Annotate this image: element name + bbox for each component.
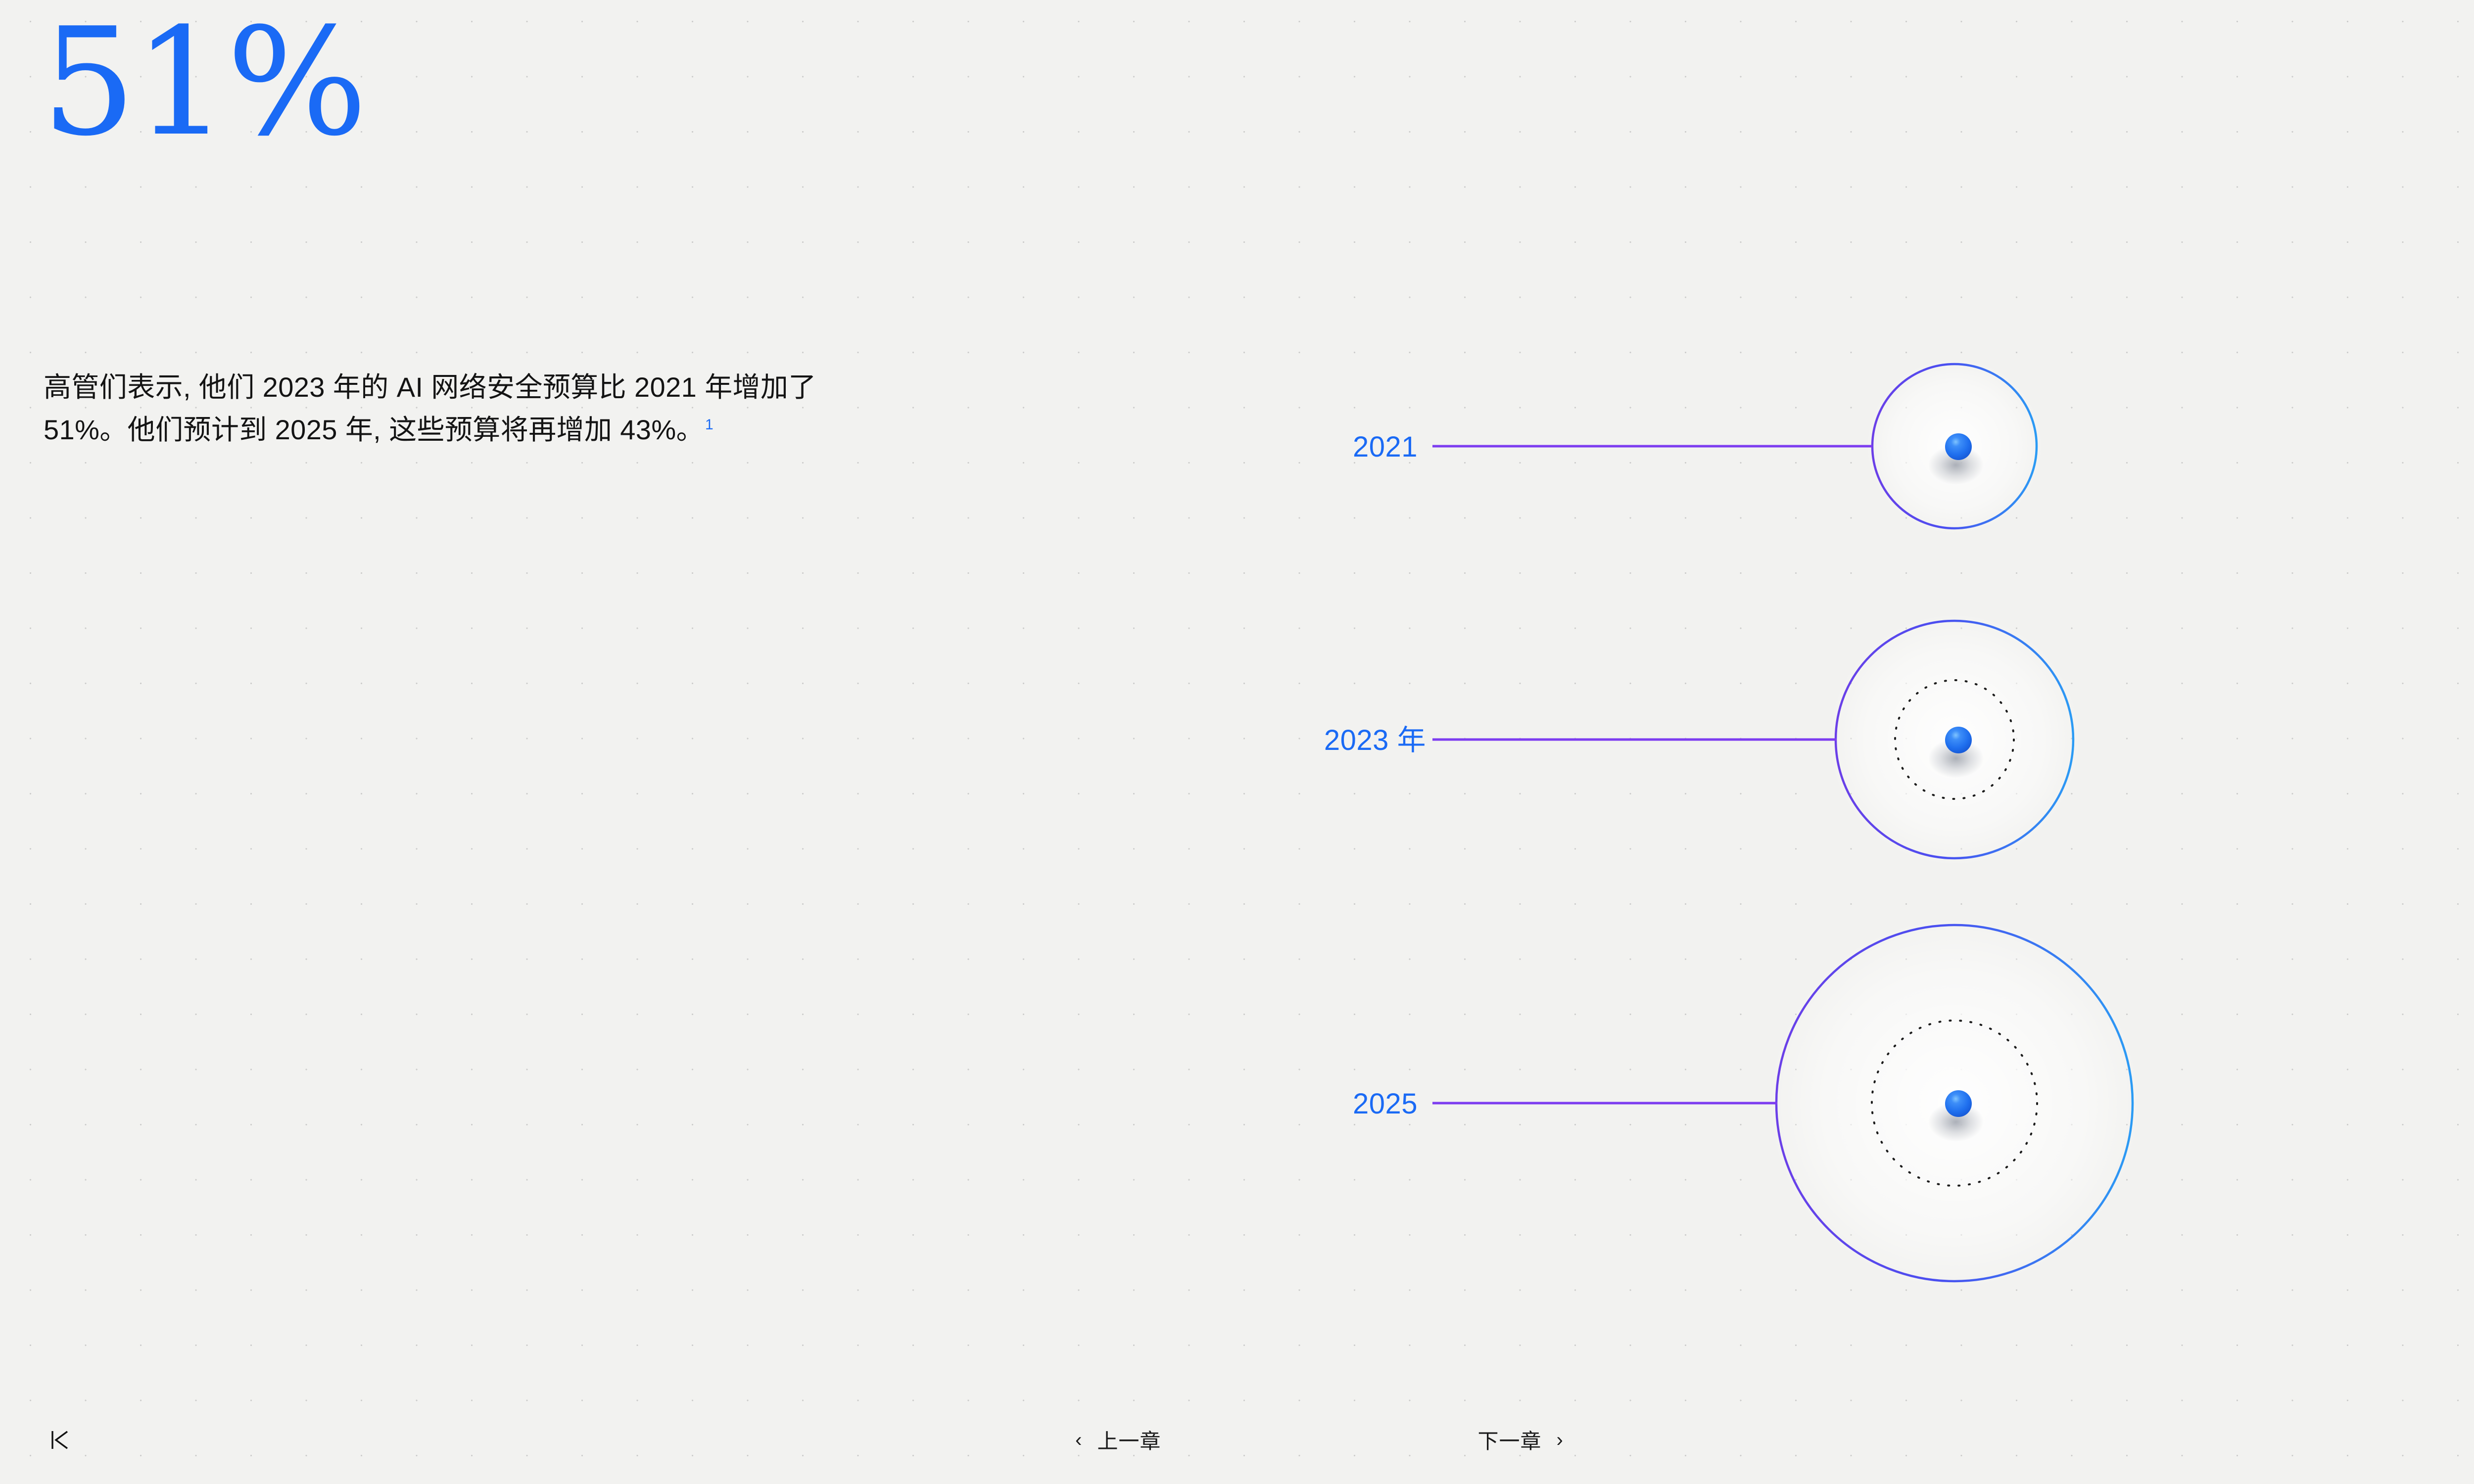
body-paragraph: 高管们表示, 他们 2023 年的 AI 网络安全预算比 2021 年增加了 5… [44,366,865,451]
chart-svg: 2021 2023 年 2025 [1286,317,2276,1336]
node-sphere-2025 [1945,1090,1972,1117]
body-paragraph-text: 高管们表示, 他们 2023 年的 AI 网络安全预算比 2021 年增加了 5… [44,371,816,445]
chart-item-2025[interactable]: 2025 [1353,915,2142,1291]
next-chapter-label: 下一章 [1478,1425,1542,1455]
prev-chapter-button[interactable]: ‹ 上一章 [1075,1425,1161,1455]
node-sphere-2021 [1945,433,1972,460]
year-label-2021[interactable]: 2021 [1353,431,1418,463]
footer-bar: ‹ 上一章 下一章 › 8 [0,1390,2474,1484]
concentric-circle-chart: 2021 2023 年 2025 [1286,317,2276,1336]
prev-chapter-label: 上一章 [1097,1425,1161,1455]
node-sphere-2023 [1945,727,1972,753]
year-label-2023[interactable]: 2023 年 [1324,724,1426,756]
next-chapter-button[interactable]: 下一章 › [1478,1425,1564,1455]
chevron-left-icon: ‹ [1075,1430,1082,1450]
footnote-reference[interactable]: 1 [705,417,714,433]
chart-item-2021[interactable]: 2021 [1353,357,2044,535]
skip-to-start-button[interactable] [49,1427,86,1453]
year-label-2025[interactable]: 2025 [1353,1088,1418,1120]
chapter-navigation: ‹ 上一章 下一章 › [1075,1425,1564,1455]
page-headline-statistic: 51% [42,0,366,168]
chart-item-2023[interactable]: 2023 年 [1324,612,2082,867]
chevron-right-icon: › [1557,1430,1564,1450]
skip-to-start-icon [49,1429,78,1451]
